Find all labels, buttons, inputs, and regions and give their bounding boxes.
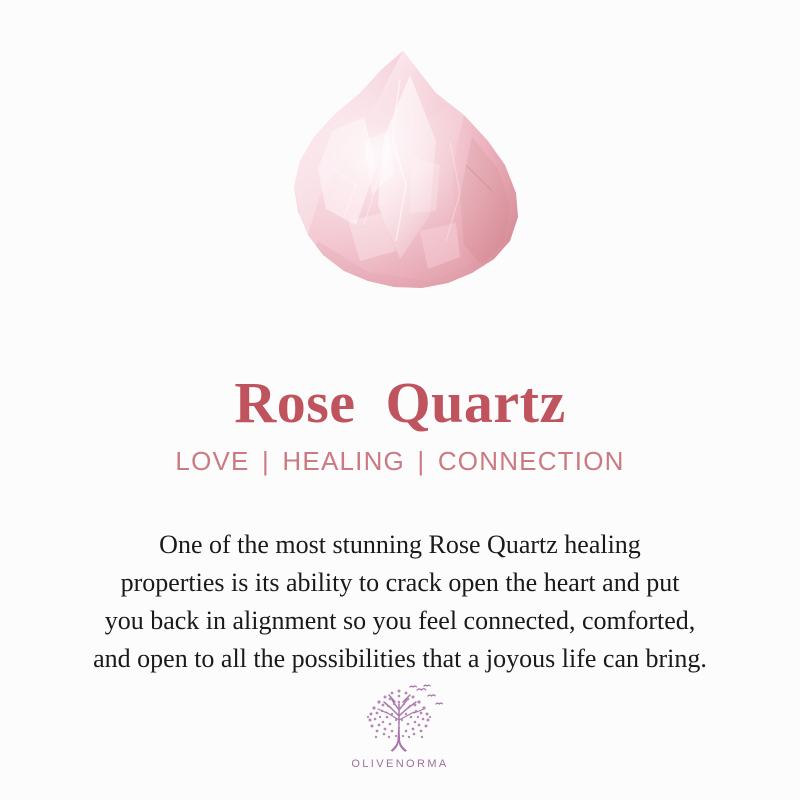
page-title: Rose Quartz	[0, 371, 800, 435]
keyword-tagline: LOVE | HEALING | CONNECTION	[0, 446, 800, 477]
rose-quartz-crystal-image	[260, 45, 540, 305]
description-line: and open to all the possibilities that a…	[0, 640, 800, 678]
description-line: you back in alignment so you feel connec…	[0, 602, 800, 640]
description-line: One of the most stunning Rose Quartz hea…	[0, 526, 800, 564]
keyword-love: LOVE	[175, 446, 249, 476]
tree-of-life-icon	[354, 684, 446, 756]
crystal-body	[260, 45, 540, 305]
rose-quartz-info-card: Rose Quartz LOVE | HEALING | CONNECTION …	[0, 0, 800, 800]
keyword-connection: CONNECTION	[438, 446, 625, 476]
brand-name: OLIVENORMA	[351, 758, 448, 770]
description-paragraph: One of the most stunning Rose Quartz hea…	[0, 526, 800, 678]
brand-logo: OLIVENORMA	[0, 684, 800, 770]
keyword-separator: |	[258, 446, 274, 476]
keyword-healing: HEALING	[282, 446, 405, 476]
hero-image-container	[0, 0, 800, 310]
keyword-separator: |	[413, 446, 429, 476]
description-line: properties is its ability to crack open …	[0, 564, 800, 602]
